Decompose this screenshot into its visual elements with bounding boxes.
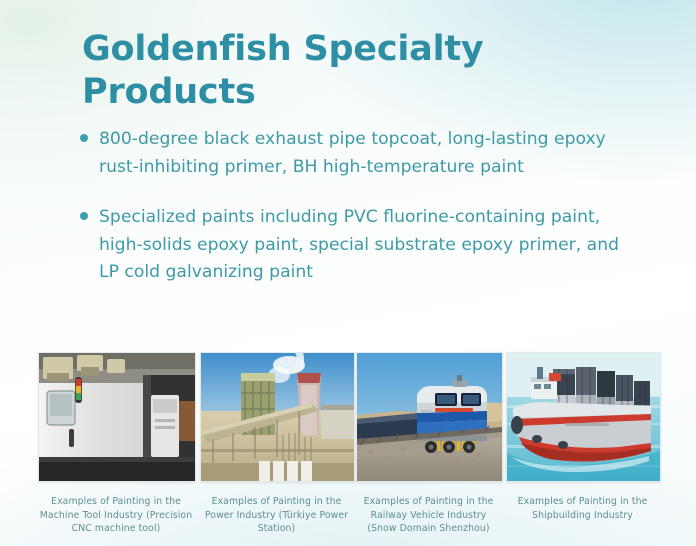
bullet-list: 800-degree black exhaust pipe topcoat, l…	[80, 126, 620, 287]
gallery-item: Examples of Painting in the Machine Tool…	[38, 352, 194, 536]
photo-caption: Examples of Painting in the Railway Vehi…	[356, 495, 501, 536]
bullet-dot-icon	[80, 212, 88, 220]
page-title: Goldenfish Specialty Products	[82, 28, 602, 113]
bullet-text: Specialized paints including PVC fluorin…	[99, 207, 619, 283]
container-ship-photo	[506, 352, 661, 482]
bullet-text: 800-degree black exhaust pipe topcoat, l…	[99, 129, 606, 177]
cnc-machine-photo	[38, 352, 196, 482]
bullet-dot-icon	[80, 134, 88, 142]
power-station-photo	[200, 352, 355, 482]
photo-gallery: Examples of Painting in the Machine Tool…	[0, 352, 696, 546]
gallery-item: Examples of Painting in the Railway Vehi…	[356, 352, 501, 536]
gallery-item: Examples of Painting in the Shipbuilding…	[506, 352, 659, 522]
list-item: Specialized paints including PVC fluorin…	[80, 204, 620, 288]
presentation-slide: Goldenfish Specialty Products 800-degree…	[0, 0, 696, 546]
photo-caption: Examples of Painting in the Machine Tool…	[38, 495, 194, 536]
photo-caption: Examples of Painting in the Shipbuilding…	[506, 495, 659, 522]
locomotive-photo	[356, 352, 503, 482]
list-item: 800-degree black exhaust pipe topcoat, l…	[80, 126, 620, 182]
gallery-item: Examples of Painting in the Power Indust…	[200, 352, 353, 536]
photo-caption: Examples of Painting in the Power Indust…	[200, 495, 353, 536]
